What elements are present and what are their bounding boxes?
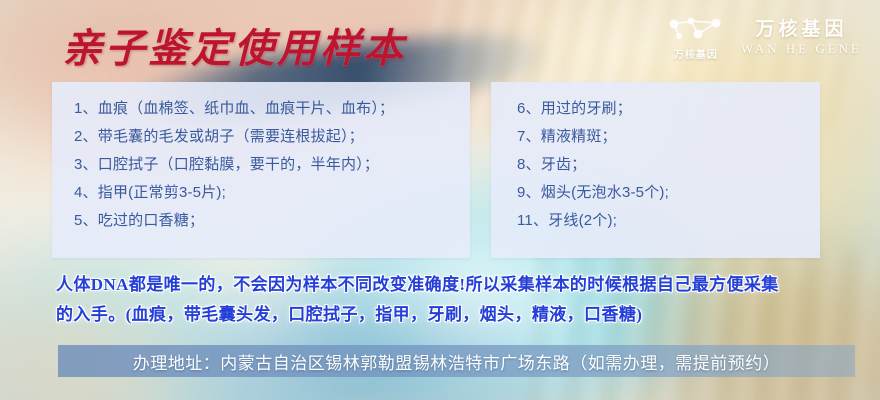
logo-wordmark: 万核基因 WAN HE GENE [741,20,862,56]
list-item: 4、指甲(正常剪3-5片); [74,179,470,207]
list-item: 9、烟头(无泡水3-5个); [517,179,820,207]
logo-mark: 万核基因 [665,14,727,61]
explanatory-note: 人体DNA都是唯一的，不会因为样本不同改变准确度!所以采集样本的时候根据自己最方… [56,270,868,330]
poster-canvas: 亲子鉴定使用样本 万核基因 万核基因 [0,0,880,400]
sample-list-left: 1、血痕（血棉签、纸巾血、血痕干片、血布）； 2、带毛囊的毛发或胡子（需要连根拔… [52,82,470,235]
address-bar: 办理地址：内蒙古自治区锡林郭勒盟锡林浩特市广场东路（如需办理，需提前预约） [58,345,855,377]
page-title: 亲子鉴定使用样本 [62,16,406,74]
list-item: 2、带毛囊的毛发或胡子（需要连根拔起）； [74,123,470,151]
note-line-2: 的入手。(血痕，带毛囊头发，口腔拭子，指甲，牙刷，烟头，精液，口香糖) [56,300,868,330]
logo-brand-en: WAN HE GENE [741,42,862,56]
list-item: 5、吃过的口香糖； [74,207,470,235]
sample-list-panel-right: 6、用过的牙刷； 7、精液精斑； 8、牙齿； 9、烟头(无泡水3-5个); 11… [491,82,820,258]
molecule-node-icon [665,14,727,44]
list-item: 6、用过的牙刷； [517,95,820,123]
sample-list-right: 6、用过的牙刷； 7、精液精斑； 8、牙齿； 9、烟头(无泡水3-5个); 11… [491,82,820,235]
brand-logo: 万核基因 万核基因 WAN HE GENE [665,14,862,61]
logo-brand-cn: 万核基因 [755,20,847,40]
list-item: 7、精液精斑； [517,123,820,151]
list-item: 1、血痕（血棉签、纸巾血、血痕干片、血布）； [74,95,470,123]
address-text: 办理地址：内蒙古自治区锡林郭勒盟锡林浩特市广场东路（如需办理，需提前预约） [133,349,781,374]
list-item: 8、牙齿； [517,151,820,179]
list-item: 11、牙线(2个); [517,207,820,235]
list-item: 3、口腔拭子（口腔黏膜，要干的，半年内）； [74,151,470,179]
sample-list-panel-left: 1、血痕（血棉签、纸巾血、血痕干片、血布）； 2、带毛囊的毛发或胡子（需要连根拔… [52,82,470,258]
note-line-1: 人体DNA都是唯一的，不会因为样本不同改变准确度!所以采集样本的时候根据自己最方… [56,270,868,300]
logo-mark-label: 万核基因 [674,46,718,61]
